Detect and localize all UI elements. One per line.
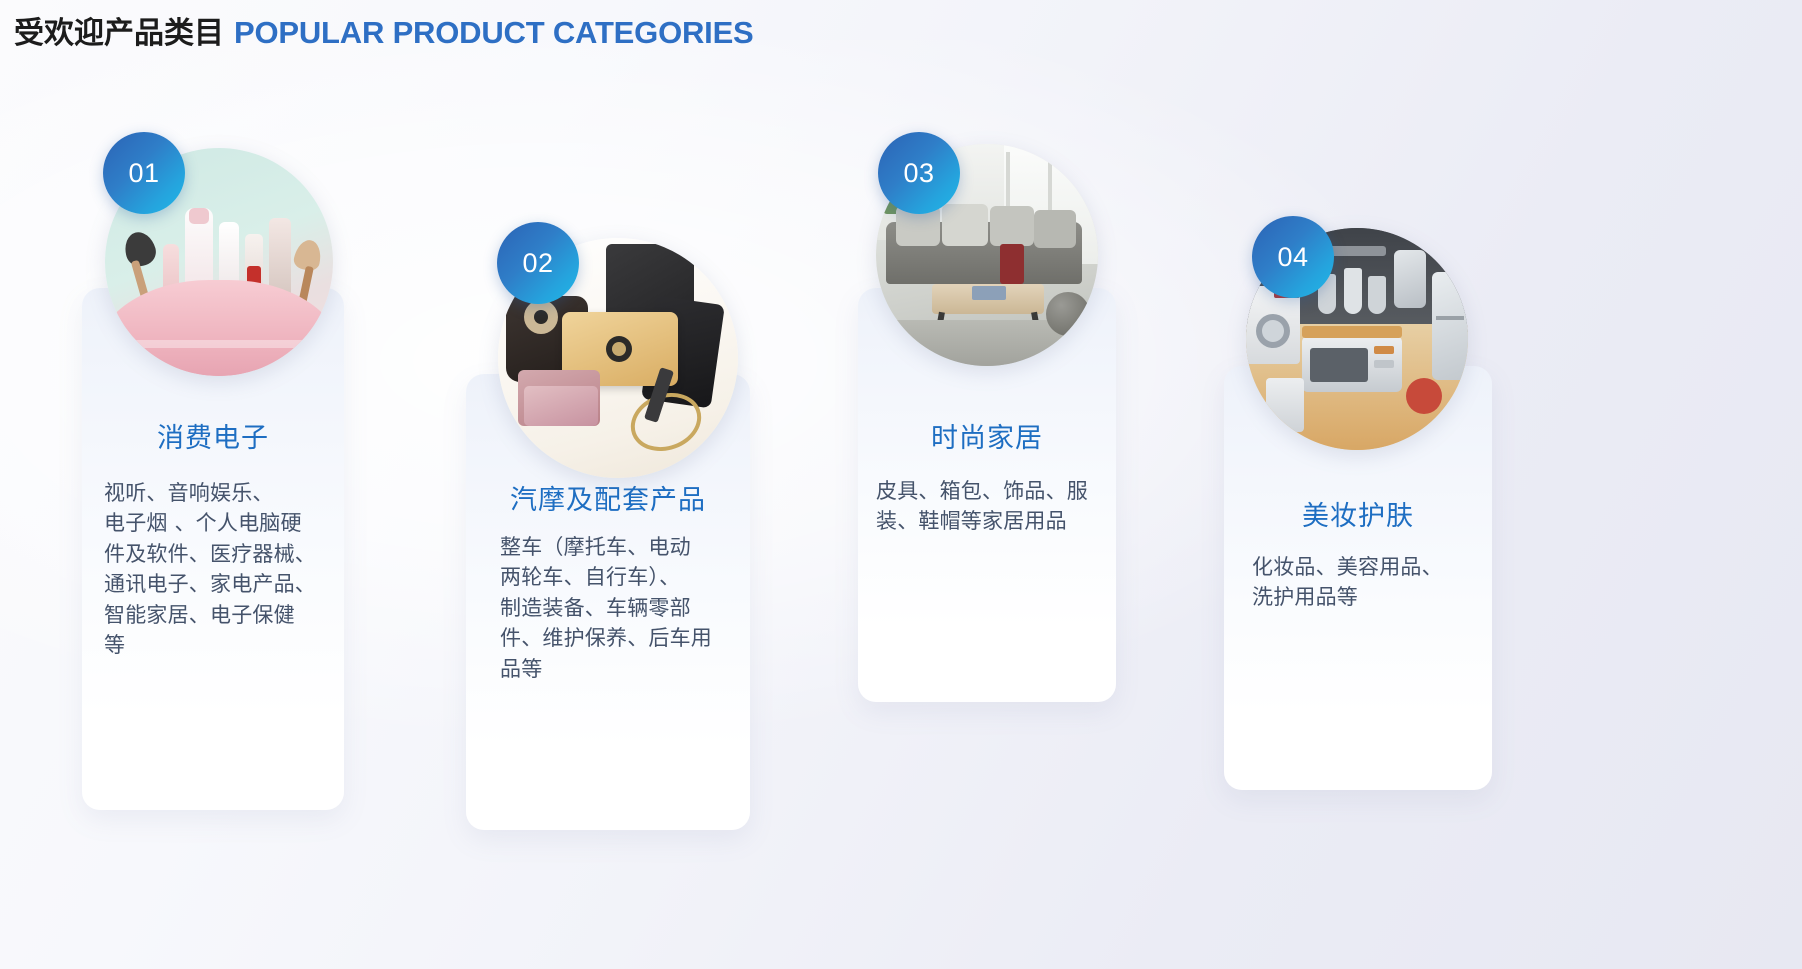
- category-badge-1: 01: [103, 132, 185, 214]
- category-card-1-title: 消费电子: [82, 416, 344, 455]
- category-card-2-body: 整车（摩托车、电动 两轮车、自行车）、 制造装备、车辆零部 件、维护保养、后车用…: [500, 532, 738, 684]
- category-card-3-body: 皮具、箱包、饰品、服 装、鞋帽等家居用品: [876, 476, 1124, 537]
- category-card-4-body: 化妆品、美容用品、 洗护用品等: [1252, 552, 1490, 613]
- category-card-1-body: 视听、音响娱乐、 电子烟 、个人电脑硬 件及软件、医疗器械、 通讯电子、家电产品…: [104, 478, 342, 661]
- category-badge-3: 03: [878, 132, 960, 214]
- page-title-chinese: 受欢迎产品类目: [14, 8, 224, 52]
- page-title-english: POPULAR PRODUCT CATEGORIES: [234, 15, 754, 51]
- category-card-4-title: 美妆护肤: [1224, 494, 1492, 533]
- category-card-2-title: 汽摩及配套产品: [466, 478, 750, 517]
- category-badge-4: 04: [1252, 216, 1334, 298]
- page-title: 受欢迎产品类目 POPULAR PRODUCT CATEGORIES: [14, 8, 754, 52]
- category-card-3-title: 时尚家居: [858, 416, 1116, 455]
- category-badge-2: 02: [497, 222, 579, 304]
